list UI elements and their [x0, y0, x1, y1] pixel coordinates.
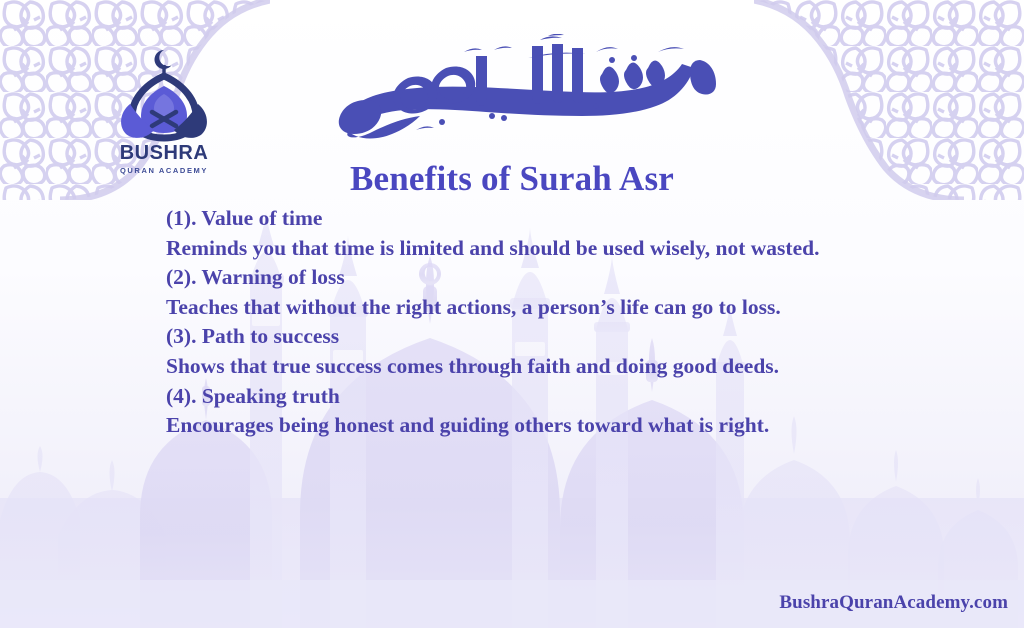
brand-logo[interactable]: BUSHRA QURAN ACADEMY	[112, 46, 216, 175]
benefit-description: Encourages being honest and guiding othe…	[166, 411, 936, 441]
benefit-heading: (2). Warning of loss	[166, 263, 936, 293]
website-url[interactable]: BushraQuranAcademy.com	[779, 592, 1008, 614]
bismillah-calligraphy	[296, 34, 726, 146]
list-item: (2). Warning of loss Teaches that withou…	[166, 263, 936, 322]
list-item: (3). Path to success Shows that true suc…	[166, 322, 936, 381]
benefit-heading: (3). Path to success	[166, 322, 936, 352]
poster-content: BUSHRA QURAN ACADEMY	[0, 0, 1024, 628]
list-item: (4). Speaking truth Encourages being hon…	[166, 382, 936, 441]
benefit-description: Teaches that without the right actions, …	[166, 293, 936, 323]
page-title: Benefits of Surah Asr	[0, 159, 1024, 199]
list-item: (1). Value of time Reminds you that time…	[166, 204, 936, 263]
benefit-heading: (1). Value of time	[166, 204, 936, 234]
poster-canvas: BUSHRA QURAN ACADEMY	[0, 0, 1024, 628]
benefit-heading: (4). Speaking truth	[166, 382, 936, 412]
mosque-dome-crescent-quran-icon	[112, 46, 216, 142]
benefits-list: (1). Value of time Reminds you that time…	[166, 204, 936, 441]
benefit-description: Reminds you that time is limited and sho…	[166, 234, 936, 264]
benefit-description: Shows that true success comes through fa…	[166, 352, 936, 382]
